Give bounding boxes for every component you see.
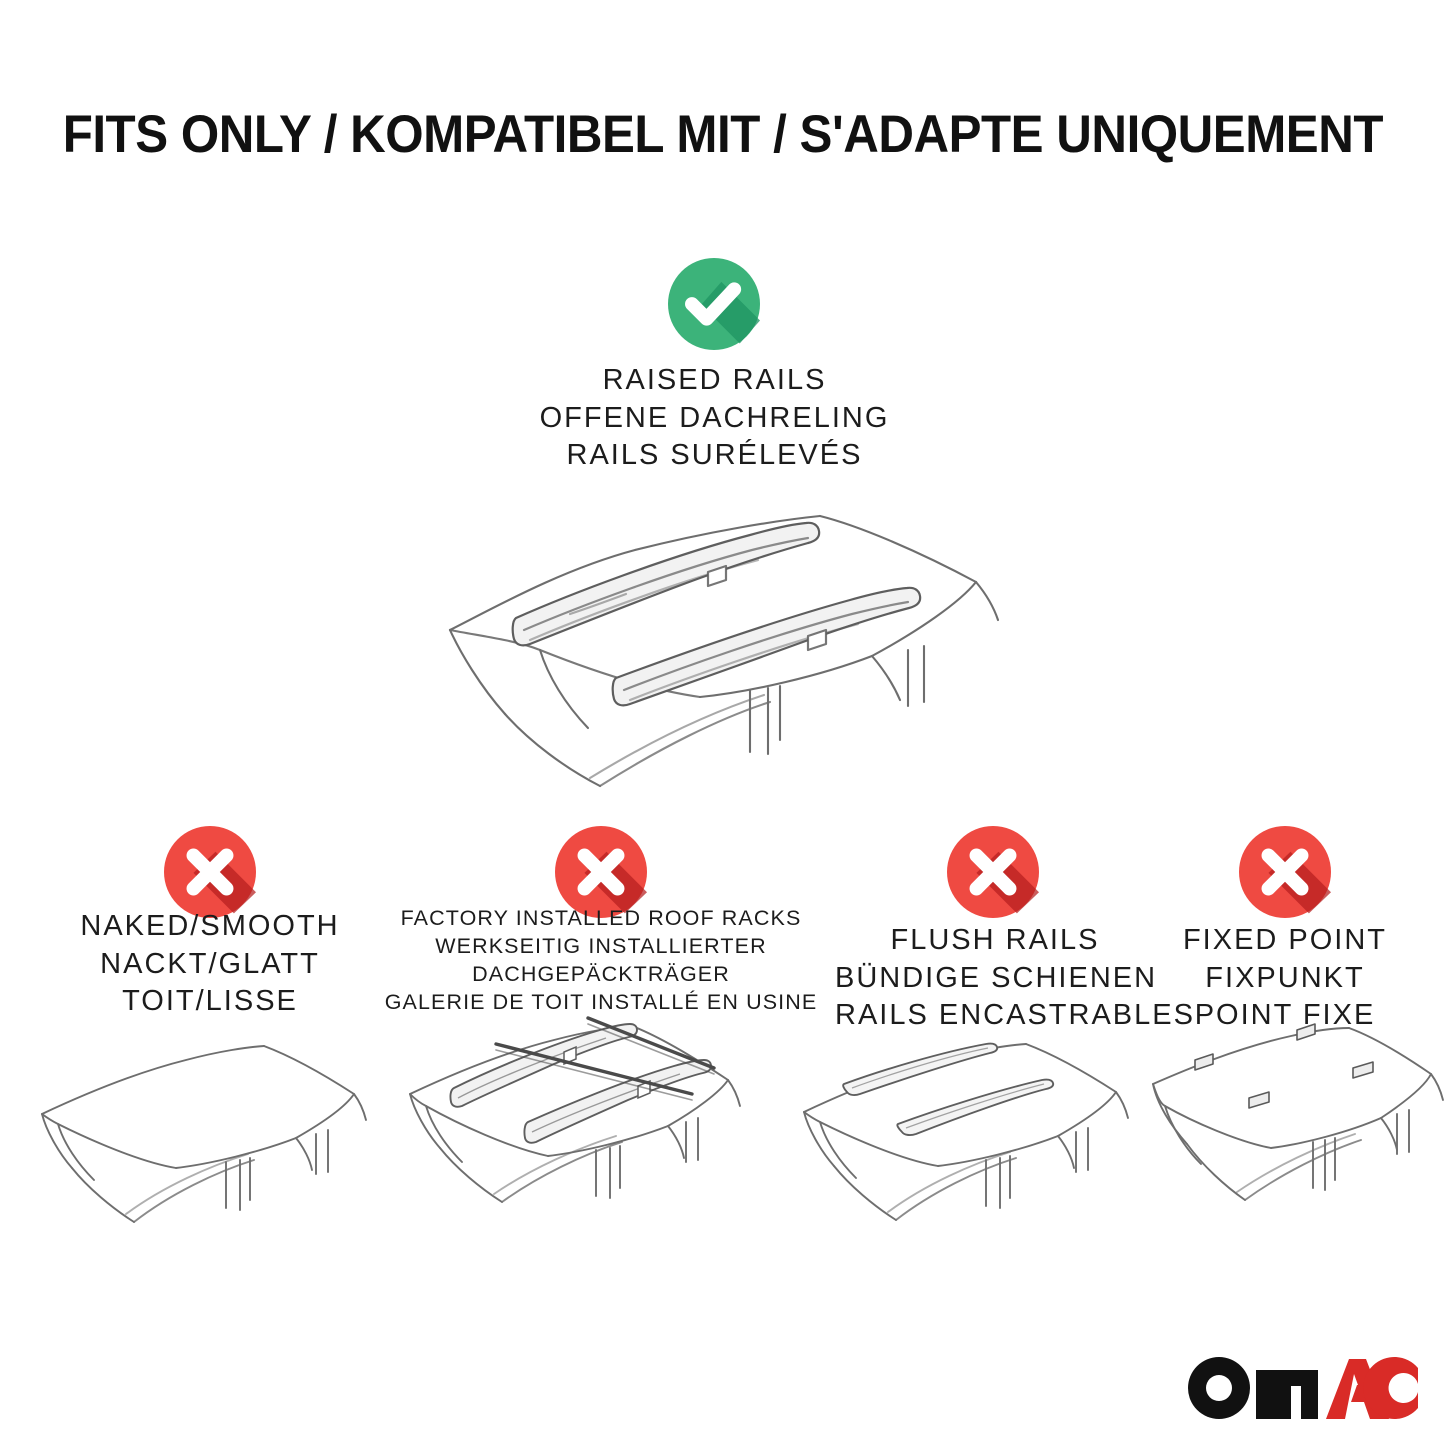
compatible-line-3: RAILS SURÉLEVÉS <box>322 437 1107 475</box>
caption-line: FACTORY INSTALLED ROOF RACKS <box>370 905 832 933</box>
caption-line: BÜNDIGE SCHIENEN <box>835 960 1155 998</box>
caption-line: NACKT/GLATT <box>35 946 385 984</box>
roof-factory-racks-illustration <box>392 1012 772 1250</box>
cross-circle-icon <box>164 826 256 918</box>
cross-circle-icon <box>1239 826 1331 918</box>
page-title-text: FITS ONLY / KOMPATIBEL MIT / S'ADAPTE UN… <box>62 104 1382 165</box>
caption-line: NAKED/SMOOTH <box>35 908 385 946</box>
caption-line: DACHGEPÄCKTRÄGER <box>370 961 832 989</box>
roof-raised-rails-illustration <box>420 490 1005 790</box>
caption-line: FIXPUNKT <box>1155 960 1415 998</box>
incompatible-caption-factory-racks: FACTORY INSTALLED ROOF RACKS WERKSEITIG … <box>370 905 832 1017</box>
caption-line: FLUSH RAILS <box>835 922 1155 960</box>
compatible-caption: RAISED RAILS OFFENE DACHRELING RAILS SUR… <box>322 362 1107 475</box>
page-title: FITS ONLY / KOMPATIBEL MIT / S'ADAPTE UN… <box>0 104 1445 165</box>
logo-letter-o <box>1188 1357 1250 1419</box>
logo-letter-m <box>1256 1370 1318 1419</box>
caption-line: FIXED POINT <box>1155 922 1415 960</box>
check-circle-icon <box>668 258 760 350</box>
incompatible-caption-fixed-point: FIXED POINT FIXPUNKT POINT FIXE <box>1155 922 1415 1035</box>
compatible-line-2: OFFENE DACHRELING <box>322 400 1107 438</box>
compatible-line-1: RAISED RAILS <box>322 362 1107 400</box>
incompatible-caption-naked-smooth: NAKED/SMOOTH NACKT/GLATT TOIT/LISSE <box>35 908 385 1021</box>
roof-fixed-point-illustration <box>1145 1022 1445 1250</box>
incompatible-caption-flush-rails: FLUSH RAILS BÜNDIGE SCHIENEN RAILS ENCAS… <box>835 922 1155 1035</box>
caption-line: TOIT/LISSE <box>35 983 385 1021</box>
caption-line: WERKSEITIG INSTALLIERTER <box>370 933 832 961</box>
roof-naked-smooth-illustration <box>20 1022 380 1250</box>
omac-logo <box>1186 1352 1418 1424</box>
cross-circle-icon <box>947 826 1039 918</box>
roof-flush-rails-illustration <box>782 1022 1142 1250</box>
